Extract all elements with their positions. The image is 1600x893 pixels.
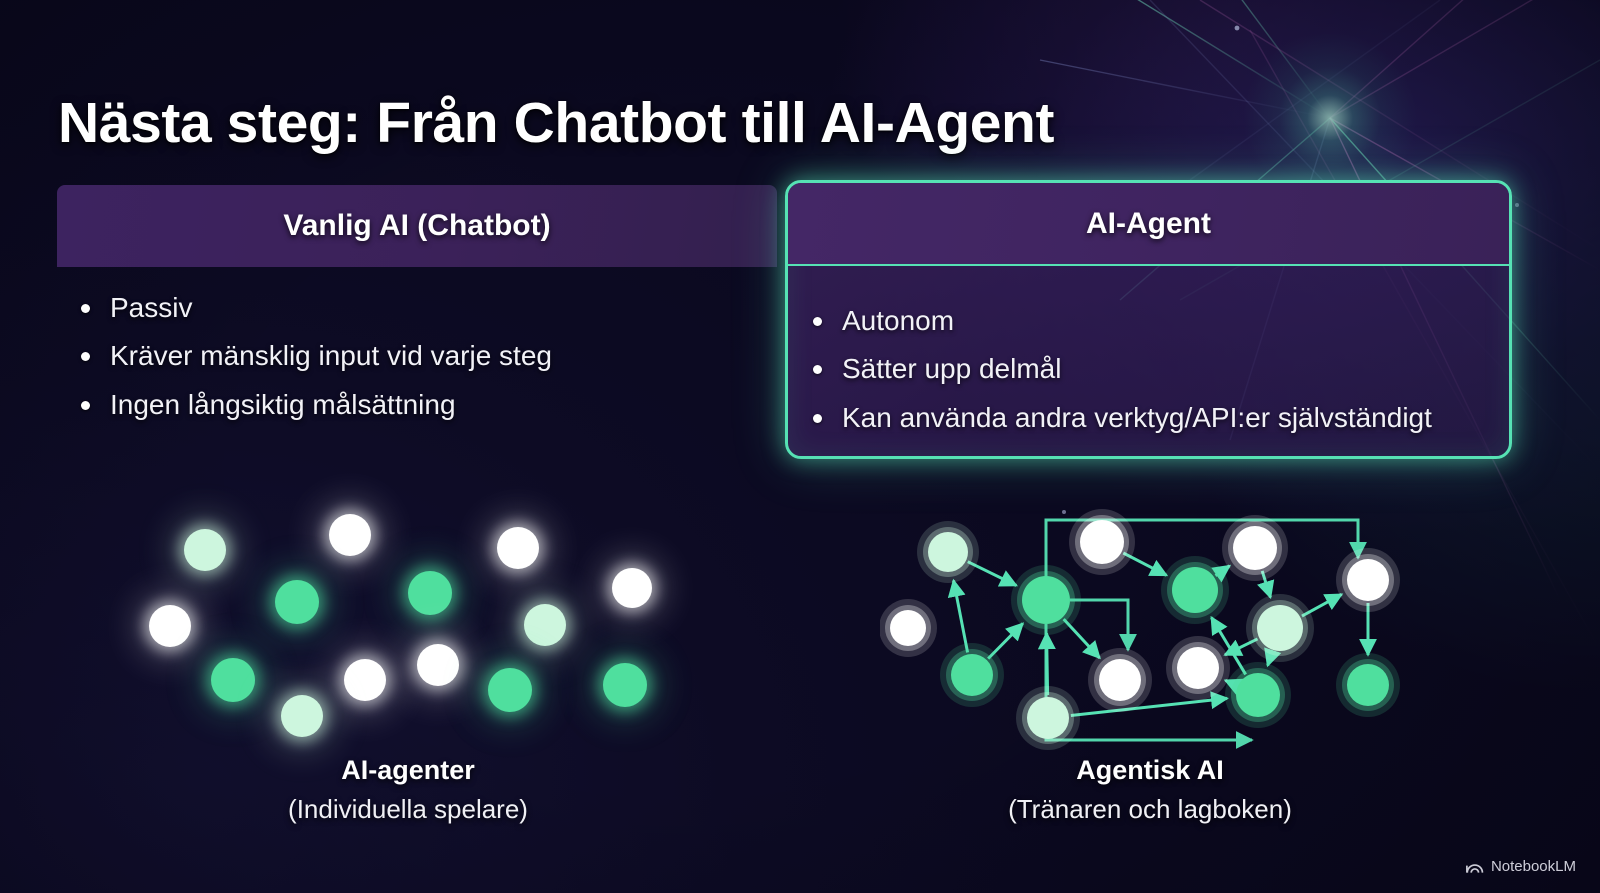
caption-subtitle: (Tränaren och lagboken) xyxy=(890,794,1410,825)
bullet-text: Passiv xyxy=(110,287,192,328)
bullet-text: Sätter upp delmål xyxy=(842,348,1061,389)
agent-dot-green xyxy=(603,663,647,707)
panel-ai-agent-body: Autonom Sätter upp delmål Kan använda an… xyxy=(813,280,1498,445)
panel-chatbot: Vanlig AI (Chatbot) Passiv Kräver mänskl… xyxy=(57,185,777,432)
page-title: Nästa steg: Från Chatbot till AI-Agent xyxy=(58,90,1054,156)
list-item: Sätter upp delmål xyxy=(813,348,1498,389)
bullet-point-icon xyxy=(813,365,822,374)
network-edge xyxy=(954,580,968,652)
list-item: Autonom xyxy=(813,300,1498,341)
network-node-pale xyxy=(1016,686,1080,750)
caption-title: AI-agenter xyxy=(148,755,668,786)
agent-bullet-list: Autonom Sätter upp delmål Kan använda an… xyxy=(813,300,1498,438)
agent-dot-green xyxy=(408,571,452,615)
agent-dot-green xyxy=(275,580,319,624)
list-item: Ingen långsiktig målsättning xyxy=(81,384,777,425)
chatbot-bullet-list: Passiv Kräver mänsklig input vid varje s… xyxy=(81,287,777,425)
bullet-text: Kan använda andra verktyg/API:er självst… xyxy=(842,397,1432,438)
agent-dot-white xyxy=(417,644,459,686)
network-graph-svg xyxy=(880,490,1420,750)
list-item: Passiv xyxy=(81,287,777,328)
bullet-text: Kräver mänsklig input vid varje steg xyxy=(110,335,552,376)
bullet-point-icon xyxy=(813,414,822,423)
network-node-white xyxy=(880,599,937,657)
network-node-pale xyxy=(917,521,979,583)
network-node-white xyxy=(1166,636,1230,700)
notebooklm-logo-icon xyxy=(1466,860,1484,874)
network-nodes xyxy=(880,509,1400,750)
agent-dot-pale xyxy=(524,604,566,646)
agent-dot-white xyxy=(497,527,539,569)
agent-dot-white xyxy=(329,514,371,556)
network-node-pale xyxy=(1246,594,1314,662)
network-node-green xyxy=(1225,662,1291,728)
agent-dot-green xyxy=(211,658,255,702)
agent-dot-pale xyxy=(184,529,226,571)
agent-dot-white xyxy=(344,659,386,701)
diagram-scattered-agents xyxy=(120,490,700,750)
network-node-white xyxy=(1088,648,1152,712)
bullet-point-icon xyxy=(813,317,822,326)
panel-chatbot-heading: Vanlig AI (Chatbot) xyxy=(57,185,777,267)
diagram-agentic-network xyxy=(880,490,1420,750)
network-node-green xyxy=(1336,653,1400,717)
list-item: Kräver mänsklig input vid varje steg xyxy=(81,335,777,376)
bullet-point-icon xyxy=(81,304,90,313)
agent-dot-white xyxy=(612,568,652,608)
network-edge xyxy=(1047,633,1048,695)
network-node-white xyxy=(1222,515,1288,581)
panel-chatbot-body: Passiv Kräver mänsklig input vid varje s… xyxy=(57,267,777,425)
agent-dot-white xyxy=(149,605,191,647)
network-node-green xyxy=(940,643,1004,707)
caption-agentic-ai: Agentisk AI (Tränaren och lagboken) xyxy=(890,755,1410,825)
panel-ai-agent-heading: AI-Agent xyxy=(788,183,1509,266)
agent-dot-pale xyxy=(281,695,323,737)
bullet-text: Autonom xyxy=(842,300,954,341)
caption-subtitle: (Individuella spelare) xyxy=(148,794,668,825)
agent-dot-green xyxy=(488,668,532,712)
caption-title: Agentisk AI xyxy=(890,755,1410,786)
network-node-green xyxy=(1161,556,1229,624)
network-node-green xyxy=(1011,565,1081,635)
list-item: Kan använda andra verktyg/API:er självst… xyxy=(813,397,1498,438)
slide-canvas: Nästa steg: Från Chatbot till AI-Agent V… xyxy=(0,0,1600,893)
network-edge xyxy=(1071,698,1227,715)
bullet-point-icon xyxy=(81,401,90,410)
panel-ai-agent: AI-Agent Autonom Sätter upp delmål Kan a… xyxy=(785,180,1512,459)
watermark-label: NotebookLM xyxy=(1491,858,1576,875)
notebooklm-watermark: NotebookLM xyxy=(1466,858,1576,875)
network-node-white xyxy=(1069,509,1135,575)
network-node-white xyxy=(1336,548,1400,612)
bullet-text: Ingen långsiktig målsättning xyxy=(110,384,456,425)
bullet-point-icon xyxy=(81,352,90,361)
caption-ai-agents: AI-agenter (Individuella spelare) xyxy=(148,755,668,825)
